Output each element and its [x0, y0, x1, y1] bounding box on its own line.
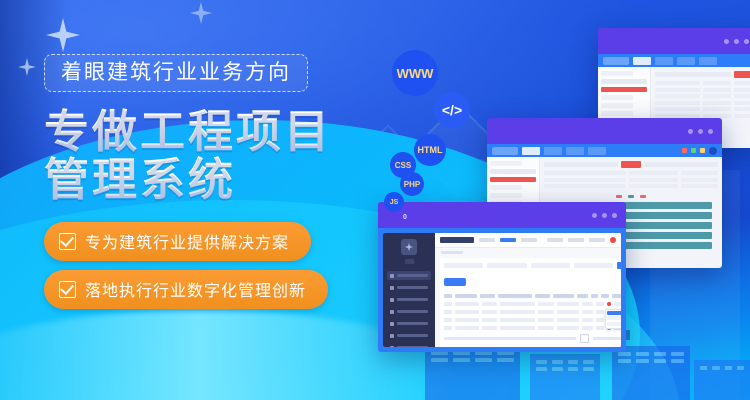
window-dot-icon	[744, 39, 749, 44]
main-headline: 专做工程项目 管理系统	[44, 108, 374, 204]
sidebar-item-settings[interactable]	[387, 343, 431, 347]
table-row[interactable]	[444, 309, 621, 314]
app-tab[interactable]	[655, 57, 673, 65]
folder-icon	[390, 286, 394, 290]
filter-field[interactable]	[444, 263, 483, 268]
app-logo	[603, 57, 629, 65]
brand-title	[440, 237, 474, 243]
building-3	[612, 346, 690, 400]
php-bubble: PHP	[400, 172, 424, 196]
sidebar-front[interactable]	[383, 233, 435, 347]
sidebar-item-dashboard[interactable]	[387, 271, 431, 280]
checkbox-checked-icon	[59, 233, 76, 250]
promo-banner: 着眼建筑行业业务方向 专做工程项目 管理系统 专为建筑行业提供解决方案 落地执行…	[0, 0, 750, 400]
window-frame-front	[378, 228, 626, 352]
feature-pill-1-label: 专为建筑行业提供解决方案	[85, 229, 289, 253]
app-window-front	[383, 233, 621, 347]
app-logo-text	[405, 259, 414, 264]
subtitle-badge: 着眼建筑行业业务方向	[44, 54, 308, 92]
app-tab[interactable]	[544, 147, 562, 155]
sparkle-icon-1	[46, 18, 80, 52]
context-menu-item[interactable]	[607, 311, 621, 315]
filter-field[interactable]	[531, 263, 570, 268]
context-menu-item[interactable]	[607, 322, 621, 326]
feature-pill-list: 专为建筑行业提供解决方案 落地执行行业数字化管理创新	[44, 222, 374, 309]
sidebar-item-staff[interactable]	[387, 331, 431, 340]
sparkle-icon-3	[190, 2, 212, 24]
message-icon[interactable]	[700, 148, 705, 153]
context-menu-item[interactable]	[607, 316, 621, 320]
add-button[interactable]	[444, 278, 466, 286]
status-icon[interactable]	[691, 148, 696, 153]
checkbox-checked-icon	[59, 281, 76, 298]
app-tab[interactable]	[633, 57, 651, 65]
doc-icon	[390, 298, 394, 302]
window-title-bar-back	[598, 28, 750, 54]
window-dot-icon	[602, 213, 607, 218]
app-header-back	[598, 54, 750, 67]
search-button[interactable]	[617, 262, 621, 269]
code-bubble: </>	[434, 92, 470, 128]
nav-item[interactable]	[589, 238, 605, 242]
sidebar-item-projects[interactable]	[387, 283, 431, 292]
table-footer	[444, 334, 621, 343]
window-title-bar-mid	[487, 118, 722, 144]
filter-bar	[444, 262, 621, 269]
headline-line-1: 专做工程项目	[44, 108, 374, 156]
dashboard-screenshot-front[interactable]	[378, 202, 626, 352]
feature-pill-1[interactable]: 专为建筑行业提供解决方案	[44, 222, 311, 261]
js-bubble: JS	[384, 192, 404, 212]
nav-item[interactable]	[521, 238, 537, 242]
building-2	[530, 354, 600, 400]
app-tab[interactable]	[677, 57, 695, 65]
app-tab[interactable]	[699, 57, 717, 65]
user-icon	[390, 334, 394, 338]
app-header-mid	[487, 144, 722, 157]
window-dot-icon	[592, 213, 597, 218]
chart-icon	[390, 310, 394, 314]
status-dot-red	[607, 302, 611, 306]
feature-pill-2-label: 落地执行行业数字化管理创新	[85, 277, 306, 301]
feature-pill-2[interactable]: 落地执行行业数字化管理创新	[44, 270, 328, 309]
box-icon	[390, 322, 394, 326]
table-row[interactable]	[444, 301, 621, 306]
record-count	[444, 337, 576, 340]
top-nav-front	[435, 233, 621, 248]
headline-block: 着眼建筑行业业务方向 专做工程项目 管理系统 专为建筑行业提供解决方案 落地执行…	[44, 54, 374, 309]
alert-icon[interactable]	[682, 148, 687, 153]
app-tab[interactable]	[566, 147, 584, 155]
sparkle-icon-2	[18, 58, 36, 76]
pagination-page[interactable]	[580, 334, 589, 343]
sidebar-item-materials[interactable]	[387, 319, 431, 328]
window-dot-icon	[612, 213, 617, 218]
main-area-front	[435, 233, 621, 347]
window-dot-icon	[708, 129, 713, 134]
avatar[interactable]	[709, 147, 717, 155]
nav-item[interactable]	[547, 238, 563, 242]
sidebar-item-finance[interactable]	[387, 307, 431, 316]
notification-badge[interactable]	[610, 237, 616, 243]
table-row[interactable]	[444, 325, 621, 330]
chart-legend	[550, 195, 712, 198]
nav-item-active[interactable]	[500, 238, 516, 242]
window-dot-icon	[698, 129, 703, 134]
app-tab[interactable]	[588, 147, 606, 155]
html-bubble: HTML	[414, 134, 446, 166]
building-4	[694, 360, 750, 400]
table-header-row	[444, 294, 621, 298]
nav-item[interactable]	[568, 238, 584, 242]
window-dot-icon	[724, 39, 729, 44]
app-tab[interactable]	[522, 147, 540, 155]
headline-line-2: 管理系统	[44, 156, 374, 204]
filter-field[interactable]	[574, 263, 613, 268]
window-dot-icon	[688, 129, 693, 134]
filter-field[interactable]	[487, 263, 526, 268]
table-row[interactable]	[444, 317, 621, 322]
sidebar-item-contracts[interactable]	[387, 295, 431, 304]
app-logo-icon	[401, 239, 417, 255]
data-table-card	[440, 258, 621, 347]
window-dot-icon	[734, 39, 739, 44]
context-menu[interactable]	[605, 309, 621, 330]
breadcrumb	[435, 248, 621, 256]
www-bubble: WWW	[392, 50, 438, 96]
zero-bubble: 0	[398, 210, 412, 224]
toolbar-row	[444, 273, 621, 291]
grid-icon	[390, 274, 394, 278]
subtitle-text: 着眼建筑行业业务方向	[61, 62, 291, 83]
gear-icon	[390, 346, 394, 348]
nav-item[interactable]	[479, 238, 495, 242]
tech-keyword-cluster: WWW </> HTML CSS PHP JS 0	[376, 36, 496, 216]
